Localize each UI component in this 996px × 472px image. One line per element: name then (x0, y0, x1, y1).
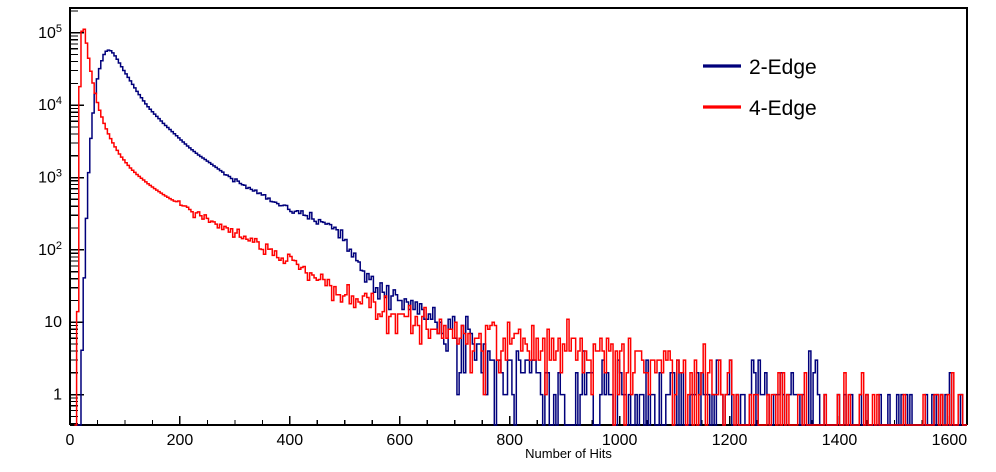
x-tick-label: 200 (167, 432, 194, 449)
x-tick-label: 600 (386, 432, 413, 449)
x-tick-label: 1600 (932, 432, 968, 449)
legend-label-2-edge: 2-Edge (749, 56, 817, 79)
chart-canvas: 0200400600800100012001400160011010210310… (0, 0, 996, 472)
y-tick-label: 10 (44, 314, 62, 331)
x-axis-title: Number of Hits (525, 446, 612, 461)
x-tick-label: 800 (496, 432, 523, 449)
legend-label-4-edge: 4-Edge (749, 97, 817, 120)
y-tick-label: 1 (53, 387, 62, 404)
x-tick-label: 400 (277, 432, 304, 449)
histogram-plot: 0200400600800100012001400160011010210310… (0, 0, 996, 472)
x-tick-label: 1400 (822, 432, 858, 449)
x-tick-label: 0 (66, 432, 75, 449)
axis-label-group: Number of Hits (525, 446, 612, 461)
x-tick-label: 1200 (712, 432, 748, 449)
